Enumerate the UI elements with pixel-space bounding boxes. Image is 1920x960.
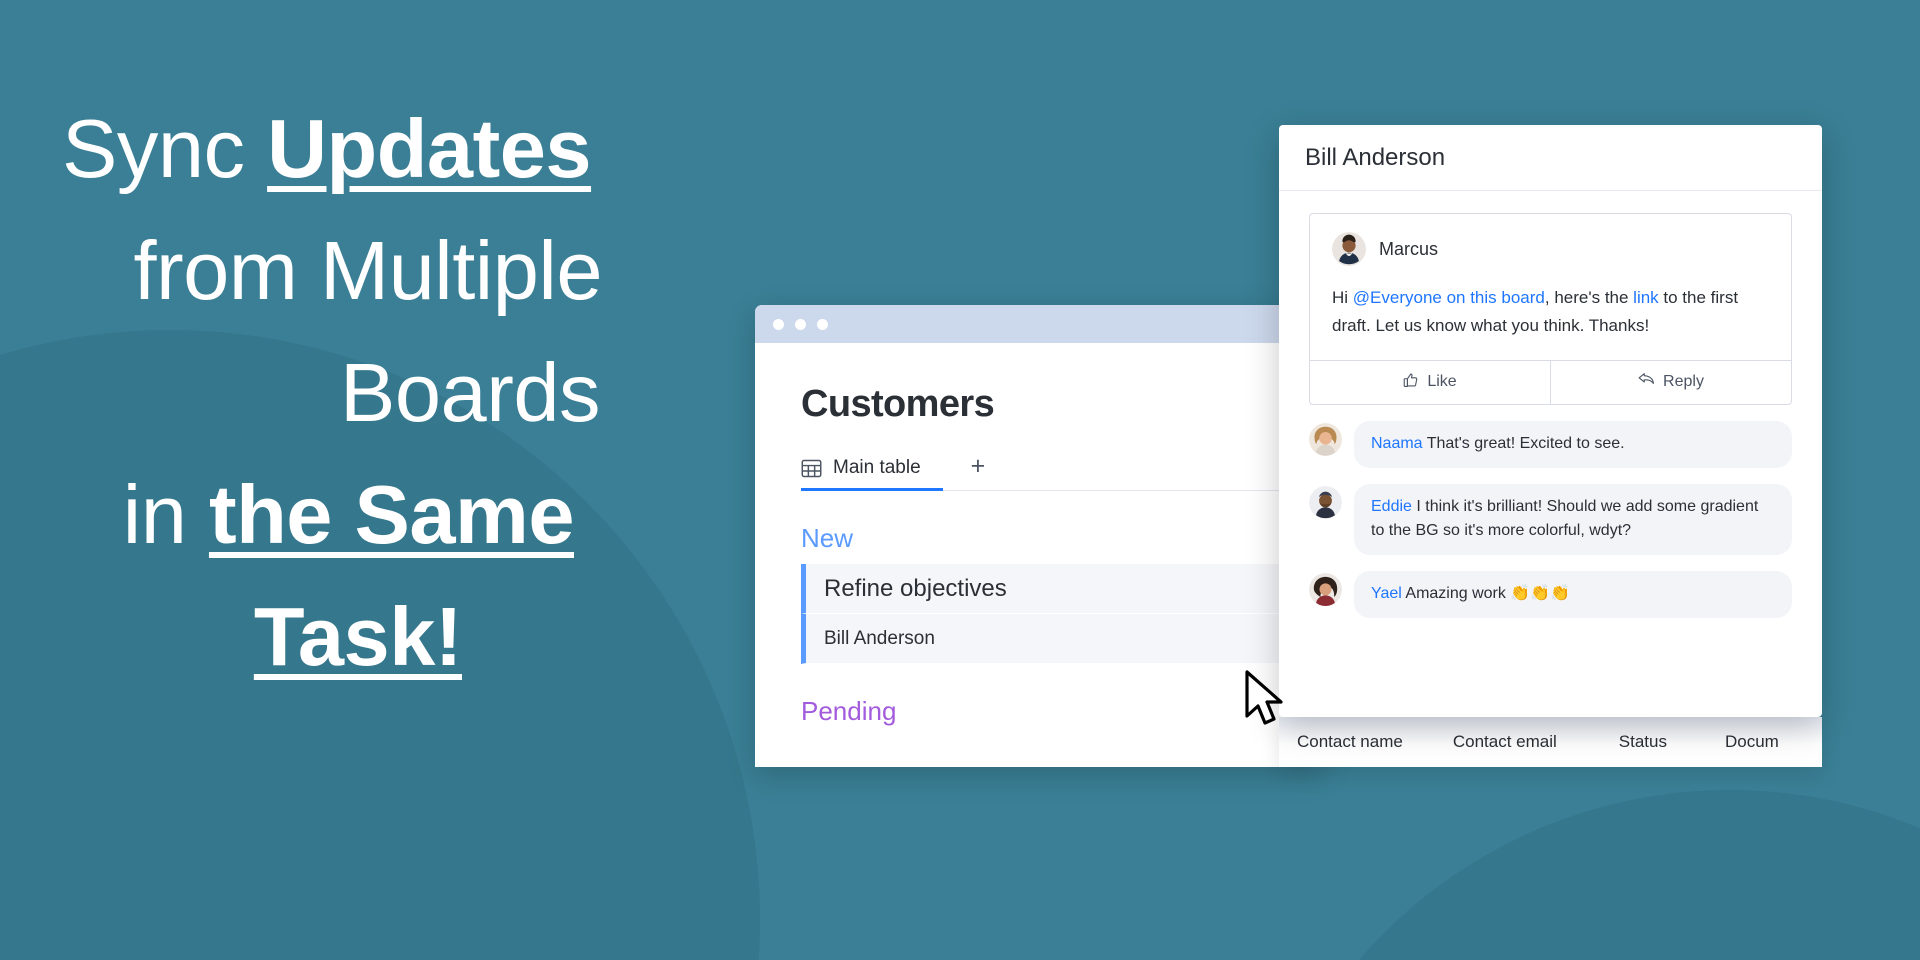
tab-main-table-label: Main table	[833, 457, 921, 479]
comment-item: Naama That's great! Excited to see.	[1309, 421, 1792, 468]
column-header-documents[interactable]: Docum	[1725, 732, 1779, 752]
table-column-headers: Contact name Contact email Status Docum	[1279, 717, 1822, 767]
board-tabs: Main table +	[801, 454, 1325, 491]
updates-panel-title: Bill Anderson	[1305, 144, 1445, 172]
headline-line-5: Task!	[62, 576, 762, 698]
comment-text: That's great! Excited to see.	[1427, 435, 1625, 452]
board-title: Customers	[801, 383, 1325, 426]
comment-item: Yael Amazing work 👏👏👏	[1309, 571, 1792, 618]
promo-canvas: Sync Updates from Multiple Boards in the…	[0, 0, 1920, 960]
window-dot-minimize-icon[interactable]	[795, 319, 806, 330]
comment-text: Amazing work 👏👏👏	[1405, 585, 1570, 602]
comment-author[interactable]: Naama	[1371, 435, 1423, 452]
customers-board-window: Customers Main table +	[755, 305, 1325, 767]
thumbs-up-icon	[1403, 372, 1419, 393]
headline-text: in	[123, 468, 209, 561]
reply-arrow-icon	[1638, 372, 1655, 393]
window-titlebar	[755, 305, 1325, 343]
update-author-row: Marcus	[1332, 232, 1769, 266]
add-tab-button[interactable]: +	[943, 454, 986, 490]
updates-panel: Bill Anderson	[1279, 125, 1822, 717]
column-header-status[interactable]: Status	[1619, 732, 1667, 752]
headline-line-2: from Multiple	[62, 210, 762, 332]
tab-main-table[interactable]: Main table	[801, 457, 943, 491]
headline-line-3: Boards	[62, 332, 762, 454]
group-label-pending: Pending	[801, 696, 1325, 727]
headline-text: Sync	[62, 102, 267, 195]
comment-author[interactable]: Eddie	[1371, 498, 1412, 515]
board-row-title: Bill Anderson	[806, 628, 935, 650]
update-text-part: Hi	[1332, 288, 1353, 307]
window-dot-maximize-icon[interactable]	[817, 319, 828, 330]
comment-text: I think it's brilliant! Should we add so…	[1371, 498, 1758, 540]
board-row[interactable]: Bill Anderson	[801, 614, 1325, 664]
comment-item: Eddie I think it's brilliant! Should we …	[1309, 484, 1792, 556]
reply-button[interactable]: Reply	[1550, 361, 1791, 404]
mention-link[interactable]: @Everyone on this board	[1353, 288, 1545, 307]
headline-emphasis: the Same	[209, 468, 574, 561]
comment-bubble: Eddie I think it's brilliant! Should we …	[1354, 484, 1792, 556]
updates-panel-body: Marcus Hi @Everyone on this board, here'…	[1279, 191, 1822, 618]
column-header-contact-name[interactable]: Contact name	[1297, 732, 1403, 752]
comment-bubble: Yael Amazing work 👏👏👏	[1354, 571, 1792, 618]
board-body: Customers Main table +	[755, 343, 1325, 727]
background-circle-right	[1240, 790, 1920, 960]
marcus-avatar	[1332, 232, 1366, 266]
headline: Sync Updates from Multiple Boards in the…	[62, 88, 762, 698]
board-row[interactable]: Refine objectives	[801, 564, 1325, 614]
headline-line-4: in the Same	[62, 454, 762, 576]
column-header-contact-email[interactable]: Contact email	[1453, 732, 1557, 752]
window-dot-close-icon[interactable]	[773, 319, 784, 330]
headline-text: from Multiple	[133, 224, 602, 317]
headline-emphasis: Task!	[254, 590, 462, 683]
like-button-label: Like	[1427, 373, 1456, 391]
update-actions: Like Reply	[1310, 360, 1791, 404]
draft-link[interactable]: link	[1633, 288, 1659, 307]
naama-avatar	[1309, 423, 1342, 456]
comment-bubble: Naama That's great! Excited to see.	[1354, 421, 1792, 468]
update-body-text: Hi @Everyone on this board, here's the l…	[1332, 284, 1769, 340]
yael-avatar	[1309, 573, 1342, 606]
headline-emphasis: Updates	[267, 102, 591, 195]
reply-button-label: Reply	[1663, 373, 1704, 391]
update-card-content: Marcus Hi @Everyone on this board, here'…	[1310, 214, 1791, 360]
headline-text: Boards	[340, 346, 600, 439]
update-card: Marcus Hi @Everyone on this board, here'…	[1309, 213, 1792, 405]
table-grid-icon	[801, 458, 822, 479]
board-row-title: Refine objectives	[806, 575, 1007, 603]
eddie-avatar	[1309, 486, 1342, 519]
headline-line-1: Sync Updates	[62, 88, 762, 210]
comment-author[interactable]: Yael	[1371, 585, 1402, 602]
group-label-new: New	[801, 523, 1325, 554]
update-author-name: Marcus	[1379, 239, 1438, 260]
like-button[interactable]: Like	[1310, 361, 1550, 404]
update-text-part: , here's the	[1545, 288, 1633, 307]
updates-panel-header: Bill Anderson	[1279, 125, 1822, 191]
